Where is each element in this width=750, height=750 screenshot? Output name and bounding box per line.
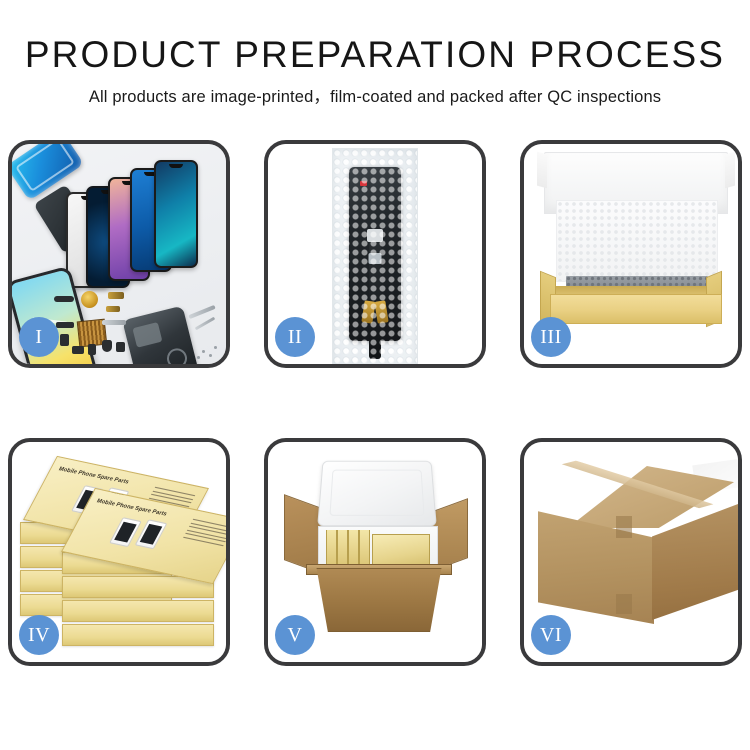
step-panel-6: VI xyxy=(520,438,742,666)
page-subtitle: All products are image-printed，film-coat… xyxy=(0,73,750,106)
spare-part-sensor xyxy=(116,342,125,352)
retail-box-front-3 xyxy=(62,600,214,622)
bubble-wrap-bag xyxy=(332,148,418,364)
step-badge-3: III xyxy=(531,317,571,357)
sealed-carton-edge-tab-upper xyxy=(616,516,632,538)
retail-box-speclines-front xyxy=(178,519,226,556)
step-badge-2: II xyxy=(275,317,315,357)
step-badge-1: I xyxy=(19,317,59,357)
spare-part-bracket xyxy=(102,320,126,325)
lcd-screen-assembly xyxy=(349,167,401,341)
lcd-connector-lower xyxy=(369,253,382,264)
lcd-connector-upper xyxy=(367,229,383,242)
retail-box-label-front: Mobile Phone Spare Parts xyxy=(95,498,168,517)
retail-box-label-rear: Mobile Phone Spare Parts xyxy=(57,466,130,485)
page-title: PRODUCT PREPARATION PROCESS xyxy=(0,0,750,73)
sealed-carton-edge-tab-lower xyxy=(616,594,632,614)
spare-part-speaker xyxy=(54,296,74,302)
carton-front-face xyxy=(308,568,450,632)
mailer-box-front xyxy=(550,294,722,324)
spare-part-button xyxy=(72,346,84,354)
lcd-red-marker xyxy=(360,181,367,186)
lcd-gold-contact-right xyxy=(375,300,389,323)
step-panel-3: III xyxy=(520,140,742,368)
spare-part-coil xyxy=(81,291,98,308)
spare-part-connector-a xyxy=(56,322,74,328)
header: PRODUCT PREPARATION PROCESS All products… xyxy=(0,0,750,106)
step-panel-1: I xyxy=(8,140,230,368)
steps-grid: I II xyxy=(8,140,742,666)
phone-screen-teal xyxy=(154,160,198,268)
step-badge-4: IV xyxy=(19,615,59,655)
step-badge-5: V xyxy=(275,615,315,655)
step-panel-4: Mobile Phone Spare Parts Mobile xyxy=(8,438,230,666)
product-preparation-infographic: PRODUCT PREPARATION PROCESS All products… xyxy=(0,0,750,750)
lcd-flex-cable xyxy=(369,233,381,359)
spare-part-flex-cable-a xyxy=(108,292,124,299)
retail-box-front-4 xyxy=(62,624,214,646)
step-panel-2: II xyxy=(264,140,486,368)
spare-part-camera xyxy=(88,344,96,355)
foam-case-lid xyxy=(317,461,437,527)
white-foam-sheet xyxy=(556,200,718,282)
step-panel-5: V xyxy=(264,438,486,666)
spare-part-vibrator xyxy=(102,340,112,352)
spare-part-flex-cable-b xyxy=(106,306,120,312)
spare-part-connector-b xyxy=(60,334,69,346)
step-badge-6: VI xyxy=(531,615,571,655)
